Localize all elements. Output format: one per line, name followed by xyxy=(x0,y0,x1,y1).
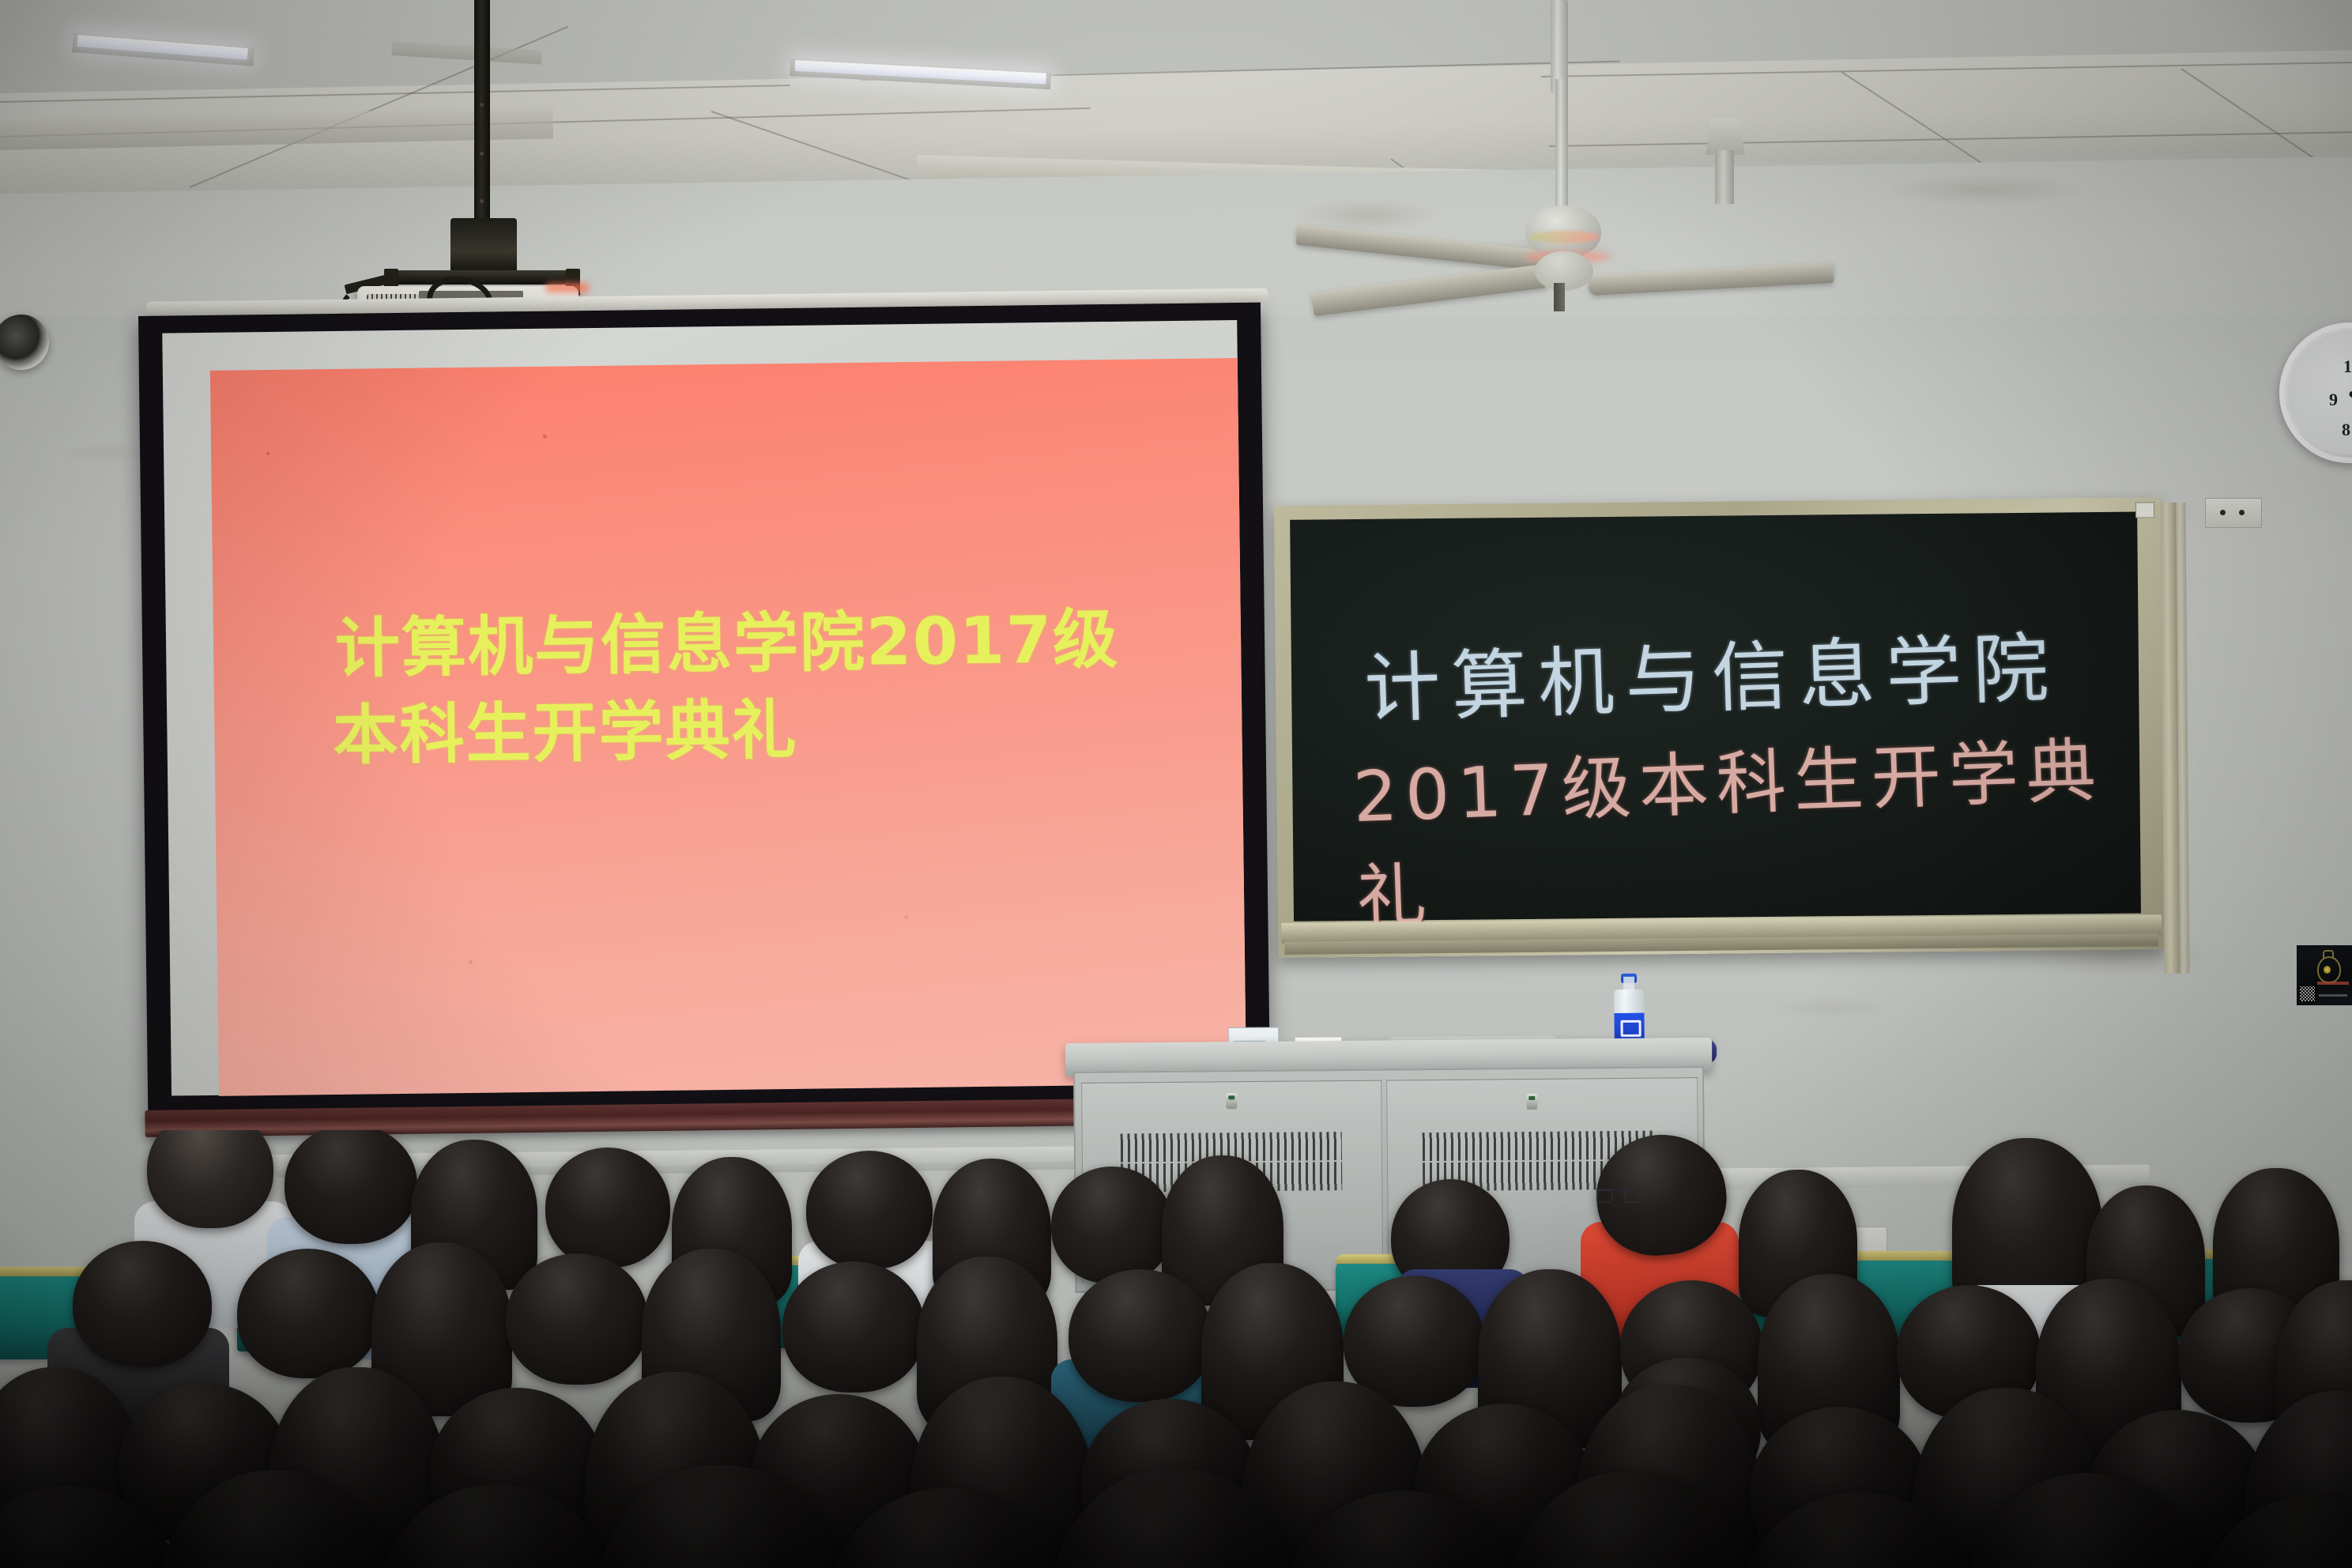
classroom-scene: 计算机与信息学院2017级 本科生开学典礼 计算机与信息学院 2017级本科生开… xyxy=(0,0,2352,1568)
projector-mount-pole xyxy=(474,0,490,231)
student-head xyxy=(147,1130,273,1228)
clock-number-10: 10 xyxy=(2343,356,2352,377)
fan-downrod-tip xyxy=(1554,283,1565,311)
student-head xyxy=(1051,1167,1173,1283)
clock-hour-hand xyxy=(2349,393,2352,420)
qr-code-icon xyxy=(2300,986,2315,1001)
clock-face: 11 10 9 8 7 xyxy=(2288,331,2352,454)
fan-rod xyxy=(1555,79,1568,213)
projection-screen: 计算机与信息学院2017级 本科生开学典礼 xyxy=(138,303,1279,1142)
slide-title: 计算机与信息学院2017级 本科生开学典礼 xyxy=(213,595,1243,782)
clock-number-9: 9 xyxy=(2329,390,2338,410)
student-head xyxy=(545,1148,670,1268)
wall-stain xyxy=(1881,174,2086,205)
slide-title-line-1: 计算机与信息学院2017级 xyxy=(213,595,1242,695)
projector-light-glow xyxy=(545,283,590,292)
student-head xyxy=(806,1151,933,1269)
blackboard-text-line-1: 计算机与信息学院 xyxy=(1363,606,2061,737)
student-head xyxy=(285,1130,417,1244)
blackboard-surface: 计算机与信息学院 2017级本科生开学典礼 xyxy=(1290,512,2141,922)
podium-lock[interactable] xyxy=(1526,1094,1537,1110)
podium-lock[interactable] xyxy=(1226,1093,1237,1109)
wall-poster xyxy=(2297,945,2352,1005)
wall-stain xyxy=(1762,996,1897,1020)
audience xyxy=(0,1130,2352,1568)
screen-surface: 计算机与信息学院2017级 本科生开学典礼 xyxy=(162,320,1246,1096)
poster-text xyxy=(2317,982,2349,985)
blackboard-frame: 计算机与信息学院 2017级本科生开学典礼 xyxy=(1274,497,2165,958)
clock-number-8: 8 xyxy=(2342,420,2350,440)
projected-slide: 计算机与信息学院2017级 本科生开学典礼 xyxy=(210,358,1246,1096)
fan-light-ring xyxy=(1528,231,1600,243)
blackboard-text-line-2: 2017级本科生开学典礼 xyxy=(1351,714,2143,942)
poster-text xyxy=(2319,994,2347,997)
fan-ceiling-mount xyxy=(1715,150,1734,204)
crowd-shadow xyxy=(0,1336,2352,1568)
wall-outlet-plate[interactable] xyxy=(2205,498,2262,528)
blackboard: 计算机与信息学院 2017级本科生开学典礼 xyxy=(1274,497,2172,964)
slide-title-line-2: 本科生开学典礼 xyxy=(214,682,1242,782)
screen-frame: 计算机与信息学院2017级 本科生开学典礼 xyxy=(138,303,1270,1114)
eyeglasses xyxy=(1596,1189,1641,1199)
lightbulb-filament xyxy=(2324,966,2331,974)
blackboard-corner-tag xyxy=(2135,502,2154,518)
projector-yoke xyxy=(450,218,517,273)
bottle-label xyxy=(1614,1013,1644,1040)
